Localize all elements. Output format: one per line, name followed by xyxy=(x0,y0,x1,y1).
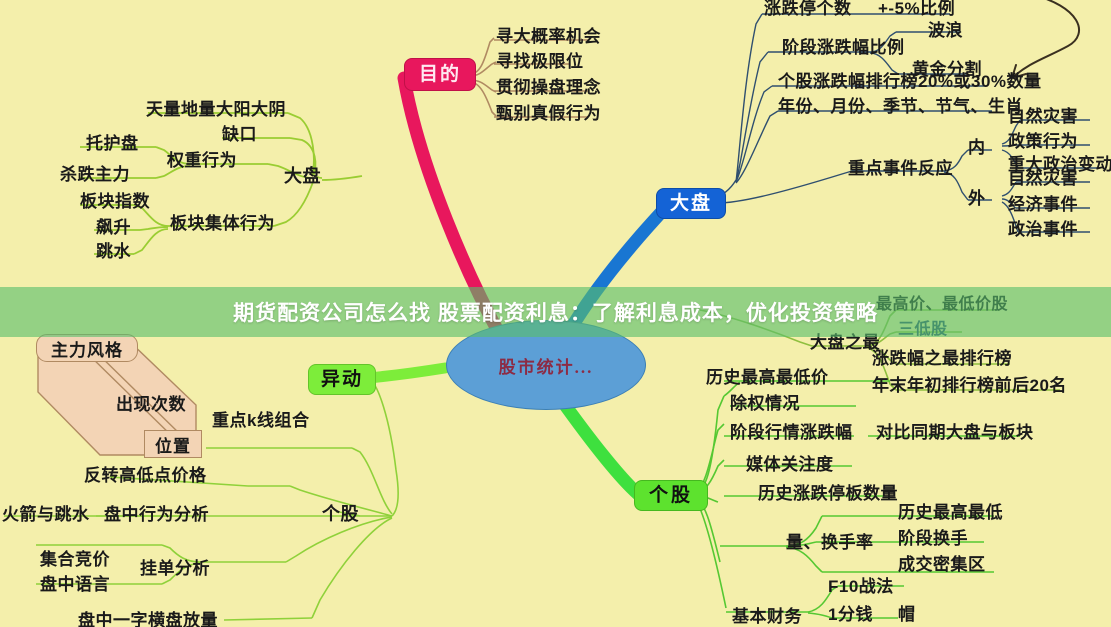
watermark-text: 期货配资公司怎么找 股票配资利息：了解利息成本，优化投资策略 xyxy=(233,297,878,327)
stage-quote-child[interactable]: 对比同期大盘与板块 xyxy=(876,424,1034,441)
basic-finance-child-2[interactable]: 帽 xyxy=(898,606,916,623)
pointer-arrow xyxy=(1012,0,1079,78)
kline-label[interactable]: 重点k线组合 xyxy=(212,412,309,429)
stage-ratio-label[interactable]: 阶段涨跌幅比例 xyxy=(782,39,905,56)
node-market-blue-label: 大盘 xyxy=(670,194,712,213)
market-blue-item-2[interactable]: 个股涨跌幅排行榜20%或30%数量 xyxy=(778,73,1042,90)
stock-right-item-1[interactable]: 除权情况 xyxy=(730,395,800,412)
node-purpose[interactable]: 目的 xyxy=(404,58,476,91)
weight-behavior-child-1[interactable]: 杀跌主力 xyxy=(60,166,130,183)
purpose-child-1[interactable]: 寻找极限位 xyxy=(496,53,584,70)
key-events-group-0-label[interactable]: 内 xyxy=(968,139,986,156)
mindmap-canvas: 股市统计... 目的 大盘 异动 个股 大盘 个股 寻大概率机会 寻找极限位 贯… xyxy=(0,0,1111,627)
node-abnormal[interactable]: 异动 xyxy=(308,364,376,395)
market-blue-item-0[interactable]: 涨跌停个数 xyxy=(764,0,852,17)
stage-ratio-child-1[interactable]: 黄金分割 xyxy=(912,61,982,78)
basic-finance-label[interactable]: 基本财务 xyxy=(732,608,802,625)
market-blue-item-1[interactable]: +-5%比例 xyxy=(878,0,955,17)
market-blue-item-3[interactable]: 年份、月份、季节、节气、生肖 xyxy=(778,98,1023,115)
order-analysis-child-0[interactable]: 集合竞价 xyxy=(40,551,110,568)
key-events-label[interactable]: 重点事件反应 xyxy=(848,160,953,177)
trunk-abnormal xyxy=(368,368,445,378)
purpose-child-0[interactable]: 寻大概率机会 xyxy=(496,28,601,45)
node-market-blue[interactable]: 大盘 xyxy=(656,188,726,219)
order-analysis-label[interactable]: 挂单分析 xyxy=(140,560,210,577)
trunk-stock xyxy=(560,398,638,494)
volume-turnover-child-2[interactable]: 成交密集区 xyxy=(898,556,986,573)
volume-turnover-label[interactable]: 量、换手率 xyxy=(786,534,874,551)
watermark-banner: 期货配资公司怎么找 股票配资利息：了解利息成本，优化投资策略 xyxy=(0,287,1111,337)
center-node-label: 股市统计... xyxy=(499,353,594,378)
weight-behavior-label[interactable]: 权重行为 xyxy=(167,152,237,169)
key-events-group-0-child-0[interactable]: 自然灾害 xyxy=(1008,108,1078,125)
stock-right-item-2[interactable]: 媒体关注度 xyxy=(746,456,834,473)
key-events-group-1-child-2[interactable]: 政治事件 xyxy=(1008,221,1078,238)
market-extreme-child-2[interactable]: 涨跌幅之最排行榜 xyxy=(872,350,1012,367)
sector-behavior-child-1[interactable]: 飙升 xyxy=(96,219,131,236)
callout-sub: 出现次数 xyxy=(116,396,186,413)
basic-finance-child-0[interactable]: F10战法 xyxy=(828,578,894,595)
weight-behavior-child-0[interactable]: 托护盘 xyxy=(86,135,139,152)
stock-left-item-0[interactable]: 反转高低点价格 xyxy=(84,467,207,484)
stock-right-item-0[interactable]: 历史最高最低价 xyxy=(706,369,829,386)
sector-behavior-child-0[interactable]: 板块指数 xyxy=(80,193,150,210)
stage-quote-label[interactable]: 阶段行情涨跌幅 xyxy=(730,424,853,441)
stock-left-bottom-item[interactable]: 盘中一字横盘放量 xyxy=(78,612,218,627)
key-events-group-1-child-0[interactable]: 自然灾害 xyxy=(1008,170,1078,187)
sector-behavior-label[interactable]: 板块集体行为 xyxy=(170,215,275,232)
stock-right-item-3[interactable]: 历史涨跌停板数量 xyxy=(758,485,898,502)
intraday-label[interactable]: 盘中行为分析 xyxy=(104,506,209,523)
node-stock-green[interactable]: 个股 xyxy=(634,480,708,511)
purpose-child-2[interactable]: 贯彻操盘理念 xyxy=(496,79,601,96)
node-stock-left[interactable]: 个股 xyxy=(322,505,359,523)
market-left-item-0[interactable]: 天量地量大阳大阴 xyxy=(146,101,286,118)
callout-title[interactable]: 主力风格 xyxy=(36,334,138,362)
key-events-group-0-child-1[interactable]: 政策行为 xyxy=(1008,133,1078,150)
kline-position-box[interactable]: 位置 xyxy=(144,430,202,458)
node-stock-green-label: 个股 xyxy=(649,486,693,505)
node-abnormal-label: 异动 xyxy=(321,370,363,389)
market-left-item-1[interactable]: 缺口 xyxy=(222,126,257,143)
node-market-left[interactable]: 大盘 xyxy=(284,167,321,185)
market-extreme-child-3[interactable]: 年末年初排行榜前后20名 xyxy=(872,377,1067,394)
stage-ratio-child-0[interactable]: 波浪 xyxy=(928,22,963,39)
node-purpose-label: 目的 xyxy=(419,65,461,84)
intraday-child-0[interactable]: 火箭与跳水 xyxy=(2,506,90,523)
key-events-group-1-child-1[interactable]: 经济事件 xyxy=(1008,196,1078,213)
purpose-child-3[interactable]: 甄别真假行为 xyxy=(496,105,601,122)
key-events-group-1-label[interactable]: 外 xyxy=(968,190,986,207)
sector-behavior-child-2[interactable]: 跳水 xyxy=(96,243,131,260)
basic-finance-child-1[interactable]: 1分钱 xyxy=(828,606,873,623)
order-analysis-child-1[interactable]: 盘中语言 xyxy=(40,576,110,593)
volume-turnover-child-1[interactable]: 阶段换手 xyxy=(898,530,968,547)
volume-turnover-child-0[interactable]: 历史最高最低 xyxy=(898,504,1003,521)
